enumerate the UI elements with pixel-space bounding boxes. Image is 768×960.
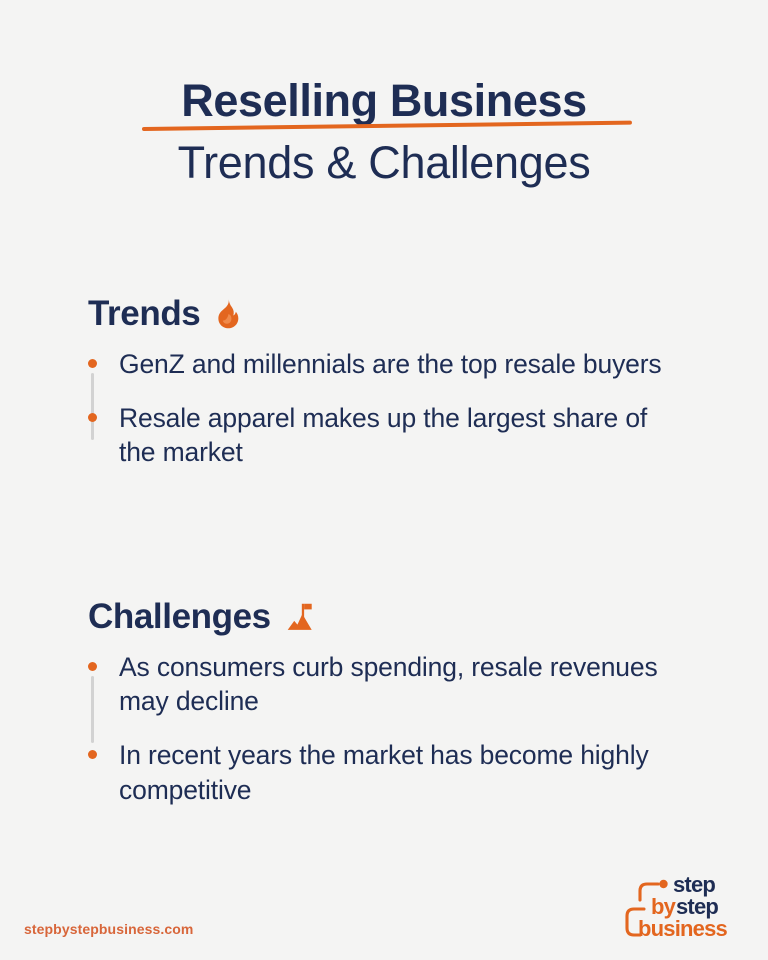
section-challenges-heading-label: Challenges xyxy=(88,597,271,637)
infographic-page: { "colors": { "background": "#f4f4f3", "… xyxy=(0,0,768,960)
page-title: Reselling Business xyxy=(0,78,768,123)
bullet-dot-icon xyxy=(88,750,97,759)
section-challenges: Challenges As consumers curb spending, r… xyxy=(88,596,688,807)
list-item: Resale apparel makes up the largest shar… xyxy=(88,401,688,469)
trends-bullet-list: GenZ and millennials are the top resale … xyxy=(88,347,688,470)
page-subtitle: Trends & Challenges xyxy=(0,139,768,188)
title-rule-wrap xyxy=(0,123,768,137)
list-item: In recent years the market has become hi… xyxy=(88,738,688,806)
orange-underline-rule xyxy=(142,121,632,131)
section-challenges-heading: Challenges xyxy=(88,596,688,638)
bullet-dot-icon xyxy=(88,359,97,368)
mountain-flag-icon xyxy=(283,600,315,634)
footer-website-url[interactable]: stepbystepbusiness.com xyxy=(24,921,193,937)
section-trends: Trends GenZ and millennials are the top … xyxy=(88,293,688,470)
bullet-text: GenZ and millennials are the top resale … xyxy=(119,347,662,381)
logo-dot-icon xyxy=(659,880,667,888)
section-trends-heading-label: Trends xyxy=(88,294,200,334)
flame-icon xyxy=(212,297,244,331)
bullet-text: Resale apparel makes up the largest shar… xyxy=(119,401,688,469)
list-item: As consumers curb spending, resale reven… xyxy=(88,650,688,718)
header: Reselling Business Trends & Challenges xyxy=(0,0,768,188)
bullet-dot-icon xyxy=(88,413,97,422)
list-item: GenZ and millennials are the top resale … xyxy=(88,347,688,381)
bullet-text: In recent years the market has become hi… xyxy=(119,738,688,806)
section-trends-heading: Trends xyxy=(88,293,688,335)
bullet-dot-icon xyxy=(88,662,97,671)
bullet-text: As consumers curb spending, resale reven… xyxy=(119,650,688,718)
logo[interactable]: step by step business xyxy=(618,870,746,942)
challenges-bullet-list: As consumers curb spending, resale reven… xyxy=(88,650,688,807)
logo-word-business: business xyxy=(638,916,728,941)
